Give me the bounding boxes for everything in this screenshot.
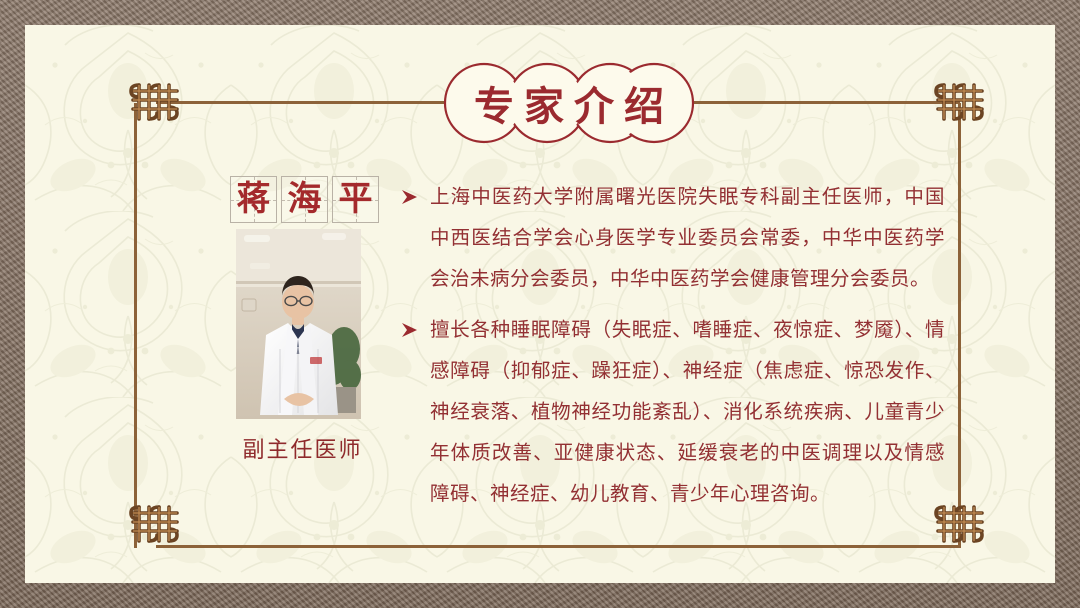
frame-line-right — [958, 103, 961, 548]
avatar — [236, 229, 361, 419]
list-item: 擅长各种睡眠障碍（失眠症、嗜睡症、夜惊症、梦魇）、情感障碍（抑郁症、躁狂症）、神… — [400, 310, 945, 515]
arrow-bullet-icon — [400, 188, 420, 206]
frame-line-left — [134, 103, 137, 548]
chinese-knot-icon — [125, 501, 187, 547]
chinese-knot-icon — [125, 79, 187, 125]
chinese-knot-icon — [930, 79, 992, 125]
name-char: 海 — [288, 183, 322, 217]
doctor-portrait-photo — [236, 229, 361, 419]
frame-line-top-left — [156, 101, 456, 104]
frame-line-bottom — [156, 545, 961, 548]
name-cell: 蒋 — [230, 176, 277, 223]
doctor-role: 副主任医师 — [230, 432, 375, 464]
name-cell: 平 — [332, 176, 379, 223]
name-char: 平 — [339, 183, 373, 217]
name-char: 蒋 — [237, 183, 271, 217]
arrow-bullet-icon — [400, 321, 420, 339]
doctor-name: 蒋 海 平 — [230, 176, 379, 223]
name-cell: 海 — [281, 176, 328, 223]
page-title: 专家介绍 — [443, 53, 695, 153]
list-item-text: 上海中医药大学附属曙光医院失眠专科副主任医师，中国中西医结合学会心身医学专业委员… — [430, 187, 945, 290]
page-title-text: 专家介绍 — [443, 53, 695, 153]
frame-line-top-right — [675, 101, 960, 104]
bullet-list: 上海中医药大学附属曙光医院失眠专科副主任医师，中国中西医结合学会心身医学专业委员… — [400, 177, 945, 525]
slide-root: 专家介绍 蒋 海 平 — [0, 0, 1080, 608]
list-item-text: 擅长各种睡眠障碍（失眠症、嗜睡症、夜惊症、梦魇）、情感障碍（抑郁症、躁狂症）、神… — [430, 320, 945, 505]
list-item: 上海中医药大学附属曙光医院失眠专科副主任医师，中国中西医结合学会心身医学专业委员… — [400, 177, 945, 300]
content-panel: 专家介绍 蒋 海 平 — [25, 25, 1055, 583]
